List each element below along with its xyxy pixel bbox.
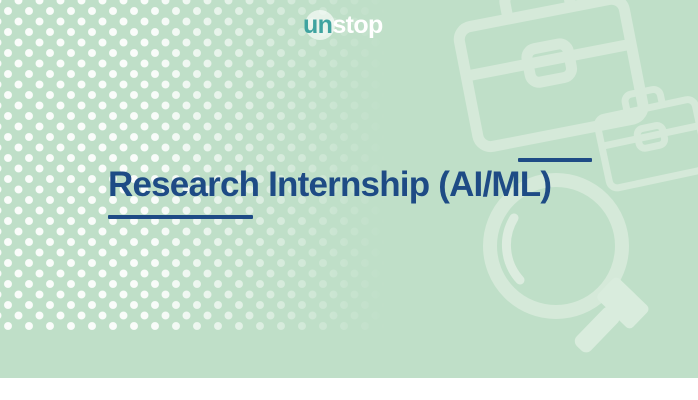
page-title: Research Internship (AI/ML): [108, 161, 628, 209]
logo-stop-text: stop: [332, 11, 382, 39]
event-banner: unstop Research Internship (AI/ML): [0, 0, 698, 378]
title-underline-accent: [108, 215, 253, 219]
logo-un-text: un: [303, 11, 332, 39]
unstop-logo[interactable]: unstop: [303, 8, 403, 42]
title-overline-accent: [518, 158, 592, 162]
bottom-white-strip: [0, 378, 698, 400]
logo-wordmark: unstop: [303, 8, 403, 42]
briefcase-icon: [440, 0, 660, 162]
